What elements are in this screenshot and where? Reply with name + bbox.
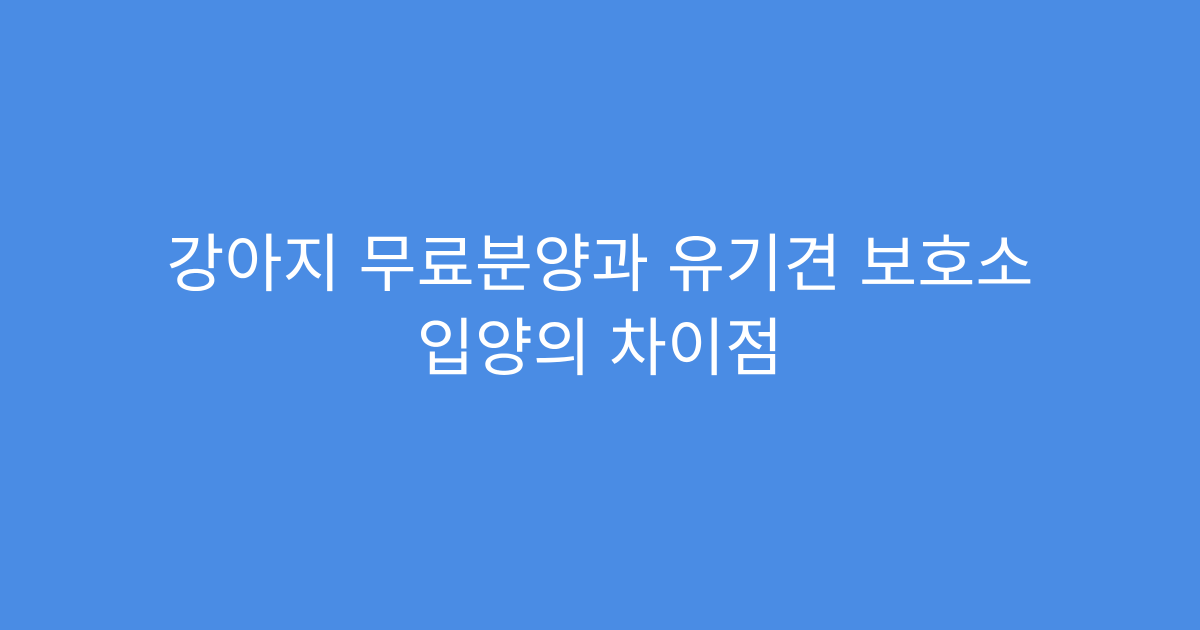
page-title: 강아지 무료분양과 유기견 보호소입양의 차이점 xyxy=(70,223,1130,391)
title-block: 강아지 무료분양과 유기견 보호소입양의 차이점 xyxy=(70,223,1130,391)
page-title-line-1: 강아지 무료분양과 유기견 보호소 xyxy=(166,230,1033,300)
share-card-canvas: 강아지 무료분양과 유기견 보호소입양의 차이점 xyxy=(0,0,1200,630)
page-title-line-2: 입양의 차이점 xyxy=(417,314,784,384)
